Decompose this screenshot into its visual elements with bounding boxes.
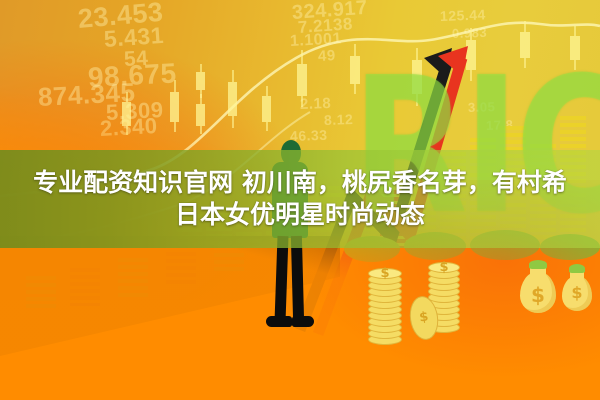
money-bag-tie	[529, 260, 548, 269]
money-bag: $	[520, 260, 556, 314]
banner-image: 23.4535.4315498.675874.3455.3092.340324.…	[0, 0, 600, 400]
coin-stack: $	[368, 268, 402, 351]
money-bag: $	[562, 264, 592, 310]
dollar-sign-icon: $	[520, 283, 556, 307]
dollar-sign-icon: $	[428, 260, 460, 275]
headline-line-2: 日本女优明星时尚动态	[175, 200, 425, 231]
dollar-sign-icon: $	[410, 308, 438, 326]
dollar-sign-icon: $	[368, 266, 402, 281]
dollar-sign-icon: $	[562, 283, 592, 302]
money-bag-tie	[569, 264, 585, 273]
headline-block: 专业配资知识官网 初川南，桃尻香名芽，有村希 日本女优明星时尚动态	[0, 150, 600, 248]
headline-line-1: 专业配资知识官网 初川南，桃尻香名芽，有村希	[33, 168, 567, 199]
